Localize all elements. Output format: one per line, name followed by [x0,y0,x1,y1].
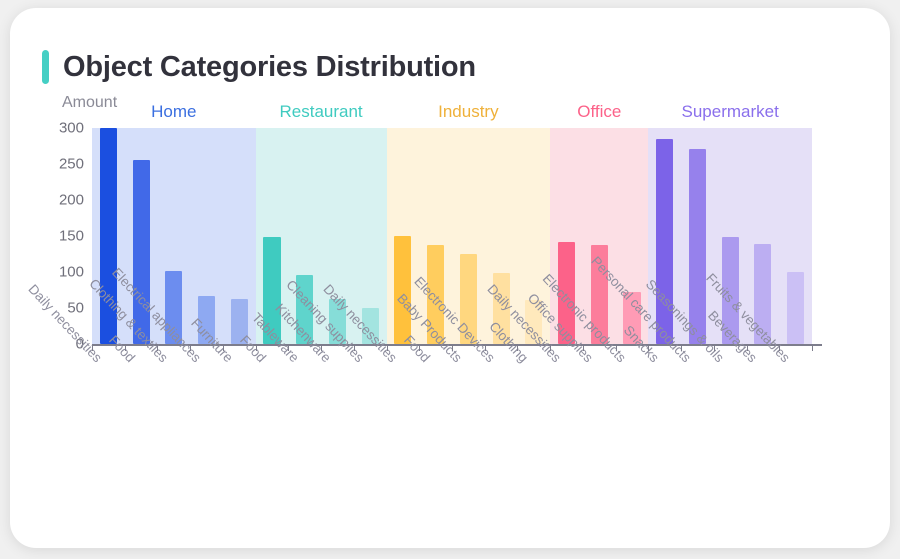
x-tick [223,344,224,351]
x-tick [157,344,158,351]
x-tick [747,344,748,351]
x-tick [387,344,388,351]
x-tick [812,344,813,351]
x-tick [92,344,93,351]
group-label-home: Home [151,102,196,122]
bar-chart: Amount 050100150200250300 HomeRestaurant… [10,8,890,548]
y-tick-label: 150 [59,228,84,245]
bar[interactable] [394,236,411,344]
x-tick [125,344,126,351]
x-tick [256,344,257,351]
x-tick [517,344,518,351]
bar[interactable] [689,149,706,344]
x-tick [321,344,322,351]
x-tick [354,344,355,351]
x-tick [485,344,486,351]
x-tick [616,344,617,351]
y-tick-label: 250 [59,156,84,173]
x-tick [190,344,191,351]
group-label-industry: Industry [438,102,498,122]
y-tick-label: 100 [59,264,84,281]
y-tick-label: 200 [59,192,84,209]
x-tick [288,344,289,351]
group-label-restaurant: Restaurant [279,102,362,122]
x-tick [419,344,420,351]
x-tick [779,344,780,351]
y-tick-label: 300 [59,120,84,137]
group-label-office: Office [577,102,621,122]
x-tick [681,344,682,351]
y-tick-label: 50 [67,300,84,317]
chart-card: Object Categories Distribution Amount 05… [10,8,890,548]
x-tick [714,344,715,351]
group-label-supermarket: Supermarket [682,102,779,122]
x-tick [648,344,649,351]
y-axis-ticks: 050100150200250300 [38,8,84,548]
x-tick [452,344,453,351]
x-tick [550,344,551,351]
x-tick [583,344,584,351]
bar[interactable] [787,272,804,344]
